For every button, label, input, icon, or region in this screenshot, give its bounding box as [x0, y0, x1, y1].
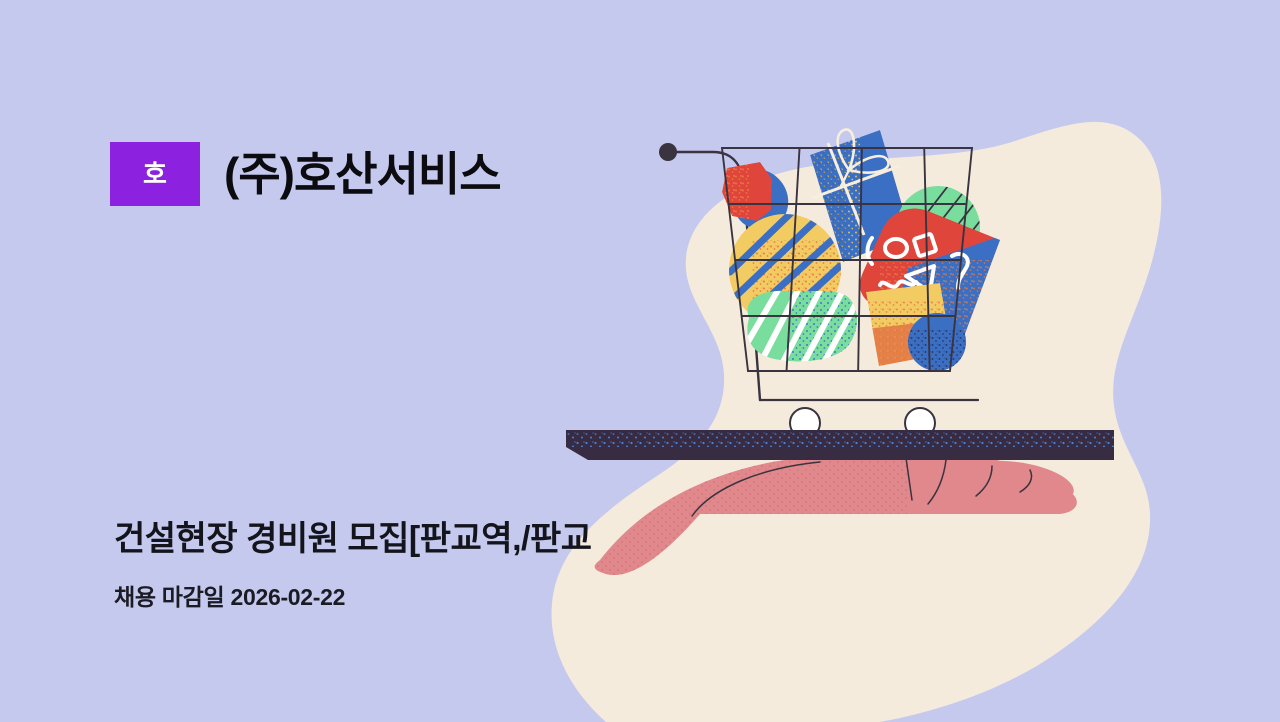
shopping-cart-illustration — [0, 0, 1280, 722]
job-title: 건설현장 경비원 모집[판교역,/판교 — [114, 518, 592, 561]
company-name: (주)호산서비스 — [224, 151, 501, 197]
company-header: 호 (주)호산서비스 — [110, 141, 501, 207]
company-logo-badge: 호 — [110, 142, 200, 206]
job-posting-card: 호 (주)호산서비스 건설현장 경비원 모집[판교역,/판교 채용 마감일 20… — [0, 0, 1280, 722]
cart-handle-knob — [659, 143, 677, 161]
dark-shelf-bar — [566, 430, 1114, 460]
deadline-text: 채용 마감일 2026-02-22 — [114, 583, 345, 613]
